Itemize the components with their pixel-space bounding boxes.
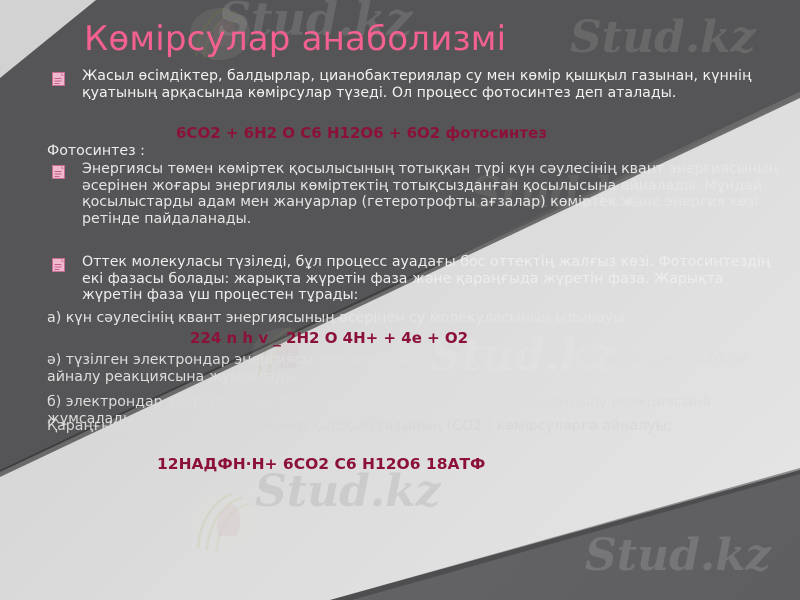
page-title: Көмірсулар анаболизмі <box>84 19 506 59</box>
document-bullet-icon <box>52 72 65 86</box>
list-item-text: Жасыл өсімдіктер, балдырлар, цианобактер… <box>82 68 772 101</box>
paragraph-item-ae: ә) түзілген электрондар энергиясы өте жо… <box>47 352 782 385</box>
slide-content: Көмірсулар анаболизмі Жасыл өсімдіктер, … <box>0 0 800 600</box>
formula-photosynthesis: 6CO2 + 6H2 O C6 H12O6 + 6O2 фотосинтез <box>176 124 547 142</box>
document-bullet-icon <box>52 258 65 272</box>
formula-water-split: 224 n h v _ 2H2 O 4H+ + 4e + O2 <box>190 329 468 347</box>
section-label-photosynthesis: Фотосинтез : <box>47 143 145 159</box>
paragraph-item-a: а) күн сәулесінің квант энергиясының әсе… <box>47 310 782 327</box>
document-bullet-icon <box>52 165 65 179</box>
paragraph-dark-phase: Қараңғыда жүретін процесс көмір қышқыл г… <box>47 418 792 435</box>
list-item-text: Энергиясы төмен көміртек қосылысының тот… <box>82 161 782 227</box>
presentation-slide: Stud.kz Stud.kz Stud.kz Stud.kz Stud.kz … <box>0 0 800 600</box>
formula-dark-phase: 12НАДФН·Н+ 6CO2 C6 H12O6 18АТФ <box>157 455 485 473</box>
list-item-text: Оттек молекуласы түзіледі, бұл процесс а… <box>82 254 782 304</box>
list-item: Энергиясы төмен көміртек қосылысының тот… <box>52 161 782 227</box>
list-item: Оттек молекуласы түзіледі, бұл процесс а… <box>52 254 782 304</box>
list-item: Жасыл өсімдіктер, балдырлар, цианобактер… <box>52 68 772 101</box>
